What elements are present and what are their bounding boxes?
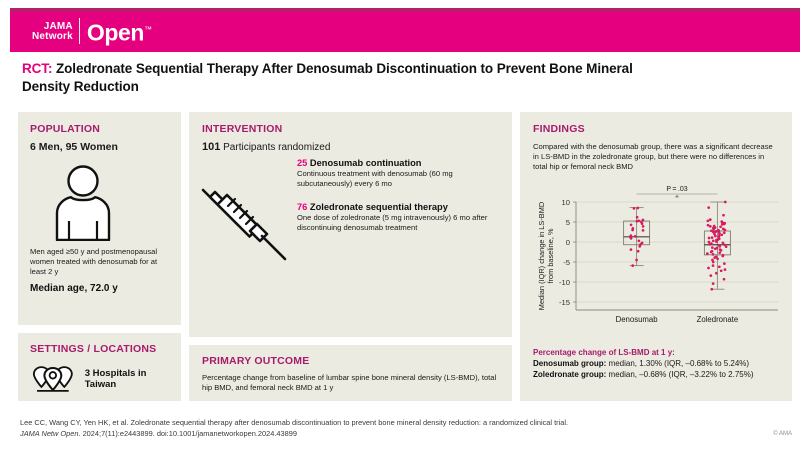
citation-line: Lee CC, Wang CY, Yen HK, et al. Zoledron… [20, 418, 720, 429]
primary-outcome-heading: PRIMARY OUTCOME [202, 355, 499, 367]
arm-count: 25 [297, 158, 307, 168]
logo-open-wordmark: Open™ [80, 18, 152, 45]
findings-footer-value: median, –0.68% (IQR, –3.22% to 2.75%) [606, 370, 753, 379]
svg-text:10: 10 [562, 198, 570, 207]
settings-row: 3 Hospitals in Taiwan [30, 362, 169, 396]
population-summary: 6 Men, 95 Women [30, 141, 169, 153]
arm-title: 76 Zoledronate sequential therapy [297, 202, 497, 212]
copyright-notice: © AMA [773, 431, 792, 437]
findings-footer-value: median, 1.30% (IQR, –0.68% to 5.24%) [606, 359, 749, 368]
arm-title: 25 Denosumab continuation [297, 158, 497, 168]
logo-line-network: Network [32, 32, 73, 41]
chart-svg: 1050-5-10-15Median (IQR) change in LS-BM… [530, 184, 782, 339]
svg-text:5: 5 [566, 218, 570, 227]
svg-text:Denosumab: Denosumab [616, 315, 659, 324]
intervention-panel: INTERVENTION 101 Participants randomized… [189, 112, 512, 337]
population-heading: POPULATION [30, 123, 169, 135]
trademark-icon: ™ [144, 25, 152, 34]
svg-text:-5: -5 [563, 258, 570, 267]
jama-network-wordmark: JAMA Network [32, 22, 79, 41]
logo-line-jama: JAMA [32, 22, 73, 31]
settings-heading: SETTINGS / LOCATIONS [30, 343, 169, 355]
settings-locations-panel: SETTINGS / LOCATIONS 3 Hospitals in Taiw… [18, 333, 181, 401]
person-icon [46, 163, 120, 241]
syringe-icon [197, 184, 292, 262]
logo-open-text: Open [87, 19, 144, 45]
intervention-participant-count: 101 [202, 141, 220, 153]
brand-top-stripe [10, 8, 800, 12]
findings-heading: FINDINGS [533, 123, 779, 135]
arm-detail: Continuous treatment with denosumab (60 … [297, 169, 497, 189]
brand-header-bar: JAMA Network Open™ [10, 8, 800, 52]
citation-doi: . 2024;7(11):e2443899. doi:10.1001/jaman… [78, 429, 296, 438]
logo-divider [79, 18, 80, 44]
arm-name: Denosumab continuation [307, 158, 421, 168]
title-study-type: RCT: [22, 61, 52, 76]
findings-footer-heading: Percentage change of LS-BMD at 1 y: [533, 347, 781, 358]
lsbmd-scatter-chart: 1050-5-10-15Median (IQR) change in LS-BM… [530, 184, 782, 339]
intervention-participants: 101 Participants randomized [202, 141, 499, 153]
intervention-arm: 25 Denosumab continuation Continuous tre… [297, 158, 497, 189]
title-text: Zoledronate Sequential Therapy After Den… [22, 61, 633, 94]
primary-outcome-panel: PRIMARY OUTCOME Percentage change from b… [189, 345, 512, 401]
primary-outcome-text: Percentage change from baseline of lumba… [202, 373, 499, 393]
map-pins-icon [30, 362, 76, 396]
arm-name: Zoledronate sequential therapy [307, 202, 448, 212]
visual-abstract-page: JAMA Network Open™ RCT: Zoledronate Sequ… [0, 0, 810, 457]
findings-panel: FINDINGS Compared with the denosumab gro… [520, 112, 792, 401]
findings-footer: Percentage change of LS-BMD at 1 y: Deno… [533, 347, 781, 380]
citation-footer: Lee CC, Wang CY, Yen HK, et al. Zoledron… [20, 418, 720, 439]
svg-text:0: 0 [566, 238, 570, 247]
svg-text:Zoledronate: Zoledronate [697, 315, 739, 324]
population-note: Men aged ≥50 y and postmenopausal women … [30, 247, 169, 277]
findings-intro: Compared with the denosumab group, there… [533, 142, 779, 173]
journal-name: JAMA Netw Open [20, 429, 78, 438]
findings-footer-line: Zoledronate group: median, –0.68% (IQR, … [533, 369, 781, 380]
intervention-heading: INTERVENTION [202, 123, 499, 135]
findings-footer-label: Zoledronate group: [533, 370, 606, 379]
arm-detail: One dose of zoledronate (5 mg intravenou… [297, 213, 497, 233]
page-title: RCT: Zoledronate Sequential Therapy Afte… [22, 60, 662, 96]
intervention-participant-label: Participants randomized [220, 142, 330, 153]
population-median-age: Median age, 72.0 y [30, 283, 169, 294]
population-panel: POPULATION 6 Men, 95 Women Men aged ≥50 … [18, 112, 181, 325]
svg-text:-10: -10 [559, 278, 570, 287]
findings-footer-label: Denosumab group: [533, 359, 606, 368]
svg-text:from baseline, %: from baseline, % [546, 228, 555, 283]
intervention-arms: 25 Denosumab continuation Continuous tre… [297, 158, 497, 246]
citation-source-line: JAMA Netw Open. 2024;7(11):e2443899. doi… [20, 429, 720, 440]
settings-value: 3 Hospitals in Taiwan [85, 368, 169, 390]
arm-count: 76 [297, 202, 307, 212]
svg-text:Median (IQR) change in LS-BMD: Median (IQR) change in LS-BMD [537, 202, 546, 310]
jama-network-open-logo: JAMA Network Open™ [32, 17, 152, 45]
findings-footer-line: Denosumab group: median, 1.30% (IQR, –0.… [533, 358, 781, 369]
svg-text:-15: -15 [559, 298, 570, 307]
intervention-arm: 76 Zoledronate sequential therapy One do… [297, 202, 497, 233]
svg-text:P = .03: P = .03 [666, 186, 687, 193]
